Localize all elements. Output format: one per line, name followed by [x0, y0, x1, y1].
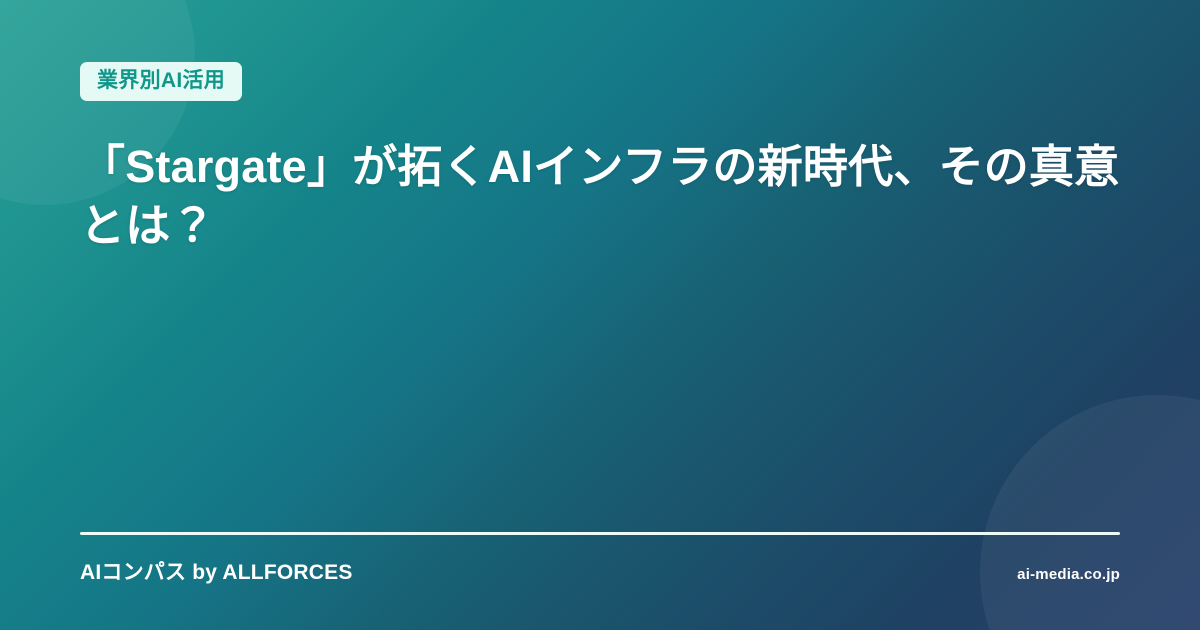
- og-card: 業界別AI活用 「Stargate」が拓くAIインフラの新時代、その真意とは？ …: [0, 0, 1200, 630]
- footer: AIコンパス by ALLFORCES ai-media.co.jp: [80, 556, 1120, 586]
- page-title: 「Stargate」が拓くAIインフラの新時代、その真意とは？: [80, 138, 1120, 255]
- card-content: 業界別AI活用 「Stargate」が拓くAIインフラの新時代、その真意とは？ …: [80, 0, 1120, 630]
- category-badge: 業界別AI活用: [80, 62, 242, 101]
- footer-divider: [80, 532, 1120, 535]
- site-domain: ai-media.co.jp: [1017, 566, 1120, 583]
- brand-name: AIコンパス by ALLFORCES: [80, 556, 353, 586]
